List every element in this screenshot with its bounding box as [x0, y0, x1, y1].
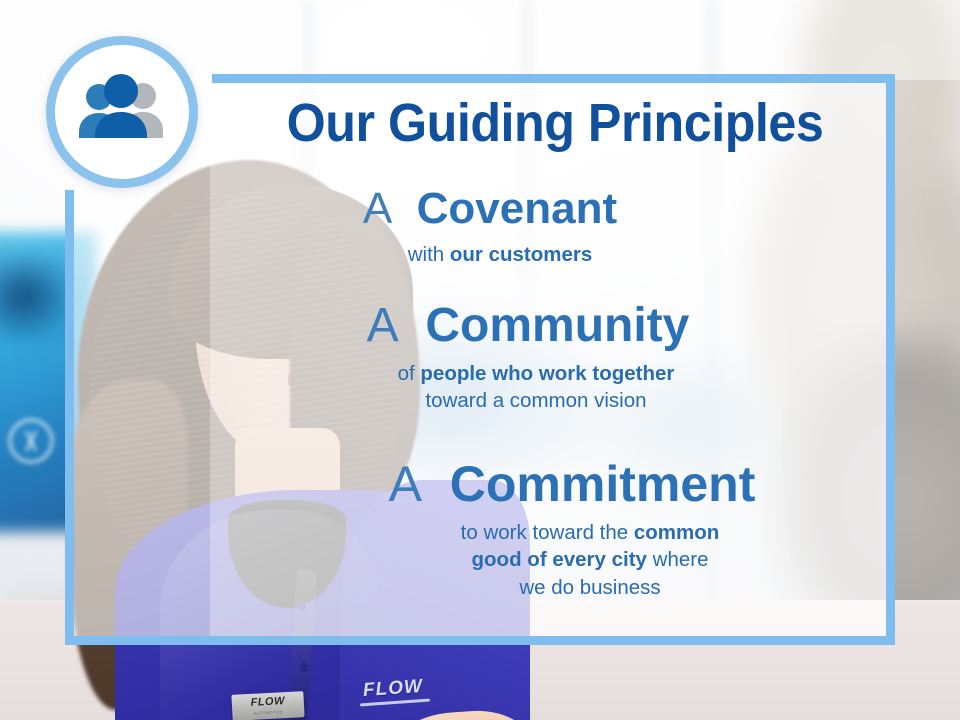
principle-word: Commitment — [450, 456, 756, 512]
principle-headline: A Covenant — [65, 186, 895, 232]
principle-commitment: A Commitment to work toward the commongo… — [65, 458, 895, 601]
shirt-logo-text: FLOW — [362, 676, 423, 702]
principle-article: A — [389, 456, 436, 512]
name-badge: FLOW AUTOMOTIVE — [231, 691, 304, 720]
name-badge-subtext: AUTOMOTIVE — [254, 709, 284, 716]
principle-word: Covenant — [417, 184, 617, 233]
principle-word: Community — [425, 299, 689, 352]
principle-community: A Community of people who work togethert… — [65, 301, 895, 414]
principle-subtext: of people who work togethertoward a comm… — [65, 360, 895, 415]
page-title: Our Guiding Principles — [239, 96, 871, 150]
principle-subtext: to work toward the commongood of every c… — [65, 519, 895, 601]
principle-covenant: A Covenant with our customers — [65, 186, 895, 268]
principle-article: A — [363, 184, 405, 233]
text-content: Our Guiding Principles A Covenant with o… — [65, 74, 895, 645]
principles-graphic: FLOW AUTOMOTIVE FLOW — [0, 0, 960, 720]
shirt-button — [300, 662, 308, 670]
principle-subtext: with our customers — [65, 241, 895, 268]
name-badge-text: FLOW — [250, 696, 285, 709]
principle-headline: A Commitment — [65, 458, 895, 510]
principle-headline: A Community — [65, 301, 895, 351]
poster-brand-logo — [8, 418, 54, 464]
principle-article: A — [367, 299, 412, 352]
